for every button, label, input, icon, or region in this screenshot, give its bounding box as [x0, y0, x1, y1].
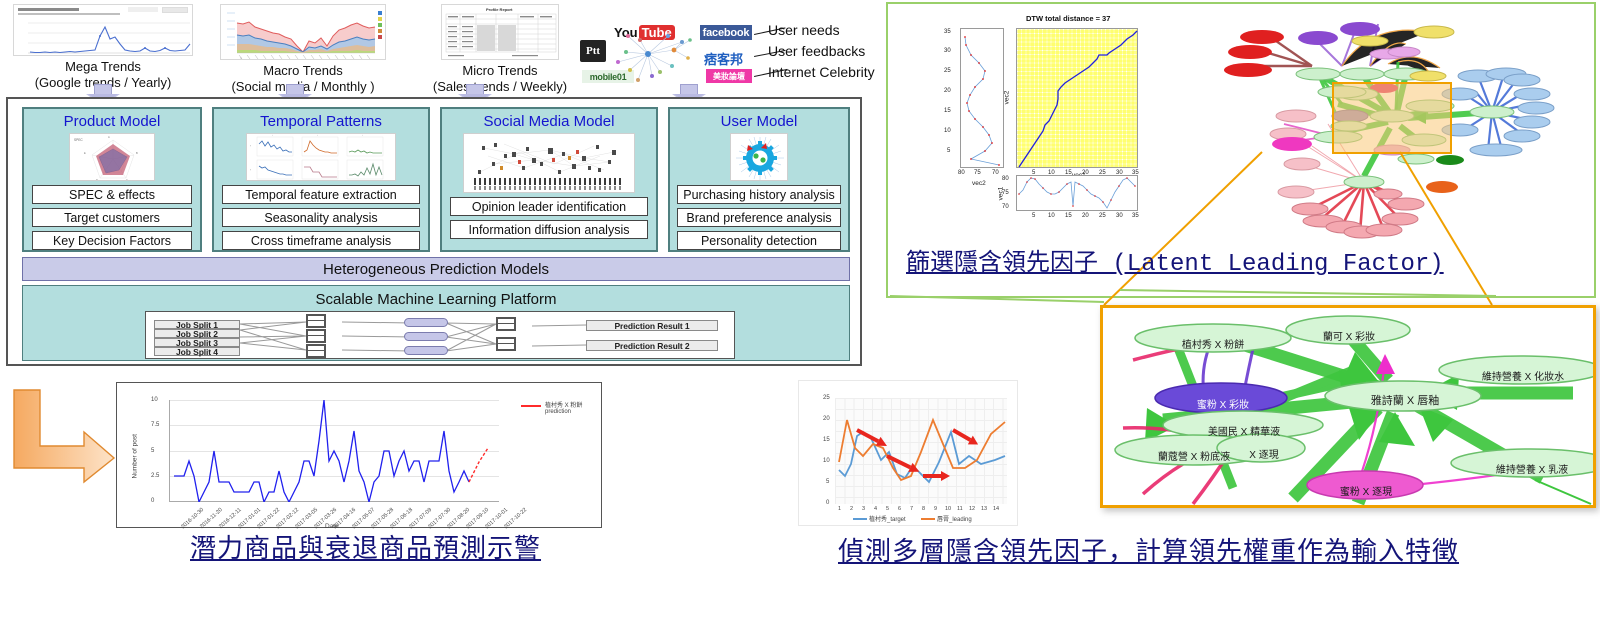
leadlag-ytick-0: 0 [826, 500, 829, 506]
svg-text:Profile Report: Profile Report [486, 7, 513, 12]
graph-node-essence[interactable]: 美國民 X 精華液 [1165, 417, 1323, 443]
dtw-left-xaxis-label: vec2 [972, 180, 986, 187]
graph-node-loose-powder-makeup[interactable]: 蜜粉 X 彩妝 [1159, 390, 1287, 416]
svg-text:SPEC: SPEC [74, 138, 83, 142]
leading-factor-network-graph [1192, 4, 1592, 242]
legend-swatch-target [853, 518, 867, 520]
label-internet-celebrity: Internet Celebrity [768, 64, 875, 80]
leadlag-xtick: 3 [862, 506, 865, 512]
user-gear-graphic [731, 134, 788, 181]
user-gear-thumbnail [730, 133, 788, 181]
dtw-left-xtick-75: 75 [974, 170, 981, 176]
pillar-social-media-model: Social Media Model [440, 107, 658, 252]
dtw-main-ytick-25: 25 [944, 68, 951, 74]
svg-text:t: t [362, 134, 363, 137]
leadlag-xtick: 14 [993, 506, 999, 512]
label-user-needs: User needs [768, 22, 840, 38]
legend-label-leadlag-target: 植村秀_target [869, 514, 906, 523]
mapper-node-3 [306, 344, 326, 358]
caption-latent-leading-factor: 篩選隱含領先因子 (Latent Leading Factor) [906, 250, 1496, 281]
facebook-icon[interactable]: facebook [700, 25, 752, 40]
trend-column-macro: a Macro Trends (Social media / Monthly ) [208, 4, 398, 94]
thumbnail-header-pill-1 [162, 7, 188, 13]
dtw-bottom-xtick-30: 30 [1116, 213, 1123, 219]
dtw-main-ytick-35: 35 [944, 29, 951, 35]
dtw-left-xtick-70: 70 [992, 170, 999, 176]
legend-swatch-prediction [521, 405, 541, 407]
leadlag-xtick: 13 [981, 506, 987, 512]
network-selection-rectangle[interactable] [1332, 82, 1452, 154]
leadlag-plot-area [835, 398, 1007, 504]
sales-report-table-thumbnail: Profile Report [442, 5, 559, 60]
legend-label-prediction: prediction [545, 409, 571, 415]
leadlag-ytick-20: 20 [823, 416, 830, 422]
dtw-bottom-xtick-25: 25 [1099, 213, 1106, 219]
pink-forum-icon[interactable]: 美妝論壇 [706, 69, 752, 83]
social-network-thumbnail [463, 133, 635, 193]
mega-trends-thumbnail [13, 4, 193, 56]
svg-text:y: y [250, 169, 251, 171]
dtw-main-ytick-20: 20 [944, 88, 951, 94]
dtw-vec1-series [1017, 176, 1139, 212]
graph-node-powder-appearance[interactable]: 蜜粉 X 逐現 [1309, 477, 1423, 503]
leadlag-xtick: 5 [886, 506, 889, 512]
job-split-4[interactable]: Job Split 4 [154, 347, 240, 356]
leadlag-xtick: 7 [910, 506, 913, 512]
pillar-title-user-model: User Model [721, 113, 798, 130]
forecast-ytick-7_5: 7.5 [151, 422, 159, 428]
dtw-cost-matrix-axes [1016, 28, 1138, 168]
pillar-user-model: User Model [668, 107, 850, 252]
pillar-title-social-media-model: Social Media Model [484, 113, 615, 130]
mobile01-icon[interactable]: mobile01 [582, 70, 634, 83]
svg-text:t: t [317, 134, 318, 137]
trend-label-micro: Micro Trends [400, 63, 600, 79]
chip-personality-detection[interactable]: Personality detection [677, 231, 841, 250]
band-scalable-ml-platform: Scalable Machine Learning Platform Job S… [22, 285, 850, 361]
small-multiples-thumbnail: yy ttt [246, 133, 396, 181]
graph-node-lancome-makeup[interactable]: 蘭可 X 彩妝 [1287, 322, 1411, 348]
youtube-word: You [614, 25, 638, 40]
pixnet-icon[interactable]: 痞客邦 [704, 49, 743, 68]
micro-trends-thumbnail: Profile Report [441, 4, 559, 60]
leadlag-xtick: 2 [850, 506, 853, 512]
trend-column-mega: Mega Trends (Google trends / Yearly) [8, 4, 198, 90]
dtw-bottom-ytick-70: 70 [1002, 204, 1009, 210]
pillar-title-temporal-patterns: Temporal Patterns [260, 113, 382, 130]
dtw-warping-path [1017, 29, 1139, 169]
trend-sublabel-micro: (Sales trends / Weekly) [400, 79, 600, 94]
label-user-feedbacks: User feedbacks [768, 43, 865, 59]
mapper-node-1 [306, 314, 326, 328]
dtw-bottom-xtick-10: 10 [1048, 213, 1055, 219]
band-heterogeneous-prediction-models: Heterogeneous Prediction Models [22, 257, 850, 281]
dtw-bottom-xtick-20: 20 [1082, 213, 1089, 219]
svg-text:B: B [136, 151, 138, 155]
dtw-main-ytick-10: 10 [944, 128, 951, 134]
chip-seasonality-analysis[interactable]: Seasonality analysis [222, 208, 420, 227]
leadlag-xtick: 1 [838, 506, 841, 512]
svg-text:D: D [96, 178, 98, 181]
svg-text:A: A [108, 135, 110, 139]
dtw-bottom-axes [1016, 175, 1138, 211]
dtw-main-ytick-15: 15 [944, 108, 951, 114]
reducer-node-1 [496, 317, 516, 331]
dtw-left-yaxis-label: vec2 [1003, 91, 1010, 105]
forecast-yaxis-label: Number of post [132, 419, 139, 479]
youtube-tube-badge: Tube [639, 25, 675, 40]
leadlag-xtick: 9 [934, 506, 937, 512]
trend-label-macro: Macro Trends [208, 63, 398, 79]
leadlag-ytick-5: 5 [826, 479, 829, 485]
leadlag-xtick: 10 [945, 506, 951, 512]
thumbnail-header-pill-2 [128, 7, 158, 12]
chip-purchasing-history-analysis[interactable]: Purchasing history analysis [677, 185, 841, 204]
macro-trends-thumbnail: a [220, 4, 386, 60]
dtw-left-xtick-80: 80 [958, 170, 965, 176]
trend-label-mega: Mega Trends [8, 59, 198, 75]
forecast-plot-area [169, 400, 499, 502]
svg-text:t: t [272, 134, 273, 137]
caption-multilayer-leading: 偵測多層隱含領先因子，計算領先權重作為輸入特徵 [838, 535, 1528, 568]
flow-arrow-to-forecast [8, 388, 118, 484]
mapper-node-2 [306, 329, 326, 343]
dtw-main-ytick-5: 5 [947, 148, 950, 154]
ptt-icon[interactable]: Ptt [580, 40, 606, 62]
forecast-series-svg [170, 400, 500, 502]
chip-brand-preference-analysis[interactable]: Brand preference analysis [677, 208, 841, 227]
leadlag-series-svg [835, 398, 1007, 504]
dtw-left-axes [960, 28, 1004, 168]
shuffle-node-3 [404, 346, 448, 355]
radar-chart: SPEC AB CDE [70, 134, 155, 181]
shuffle-node-2 [404, 332, 448, 341]
chip-cross-timeframe-analysis[interactable]: Cross timeframe analysis [222, 231, 420, 250]
prediction-result-1[interactable]: Prediction Result 1 [586, 320, 718, 331]
legend-label-target: 植村秀 X 粉餅 [545, 400, 582, 409]
graph-node-toner[interactable]: 維持營養 X 化妝水 [1441, 362, 1596, 388]
caption-potential-decline-alert: 潛力商品與衰退商品預測示警 [190, 532, 610, 565]
dtw-bottom-ytick-80: 80 [1002, 176, 1009, 182]
large-social-graph [464, 134, 635, 193]
chip-temporal-feature-extraction[interactable]: Temporal feature extraction [222, 185, 420, 204]
forecast-ytick-2_5: 2.5 [151, 473, 159, 479]
pillar-product-model: Product Model SPEC AB CDE [22, 107, 202, 252]
svg-text:E: E [84, 151, 86, 155]
mega-trends-sparkline [14, 19, 193, 56]
reducer-node-2 [496, 337, 516, 351]
social-media-sources-cluster: Ptt YouTube facebook 痞客邦 mobile01 美妝論壇 [578, 14, 778, 92]
leadlag-xtick: 6 [898, 506, 901, 512]
legend-swatch-leading [921, 518, 935, 520]
youtube-icon[interactable]: YouTube [614, 25, 675, 40]
leadlag-xtick: 8 [922, 506, 925, 512]
chip-spec-effects[interactable]: SPEC & effects [32, 185, 192, 204]
forecast-chart-panel: Number of post 10 7.5 5 2.5 0 2016-10-30… [116, 382, 602, 528]
dtw-main-ytick-30: 30 [944, 48, 951, 54]
dtw-bottom-xtick-15: 15 [1065, 213, 1072, 219]
radar-chart-thumbnail: SPEC AB CDE [69, 133, 155, 181]
leadlag-xtick: 4 [874, 506, 877, 512]
dtw-title: DTW total distance = 37 [1026, 14, 1110, 23]
dtw-bottom-xtick-5: 5 [1032, 213, 1035, 219]
leadlag-ytick-10: 10 [823, 458, 830, 464]
shuffle-node-1 [404, 318, 448, 327]
forecast-ytick-5: 5 [151, 448, 154, 454]
dtw-bottom-yaxis-label: vec1 [997, 187, 1004, 201]
leadlag-xtick: 11 [957, 506, 963, 512]
legend-label-leadlag-leading: 唇膏_leading [937, 514, 972, 523]
pillar-title-product-model: Product Model [64, 113, 161, 130]
graph-node-appearance[interactable]: X 逐現 [1221, 440, 1307, 466]
leadlag-chart-panel: 25 20 15 10 5 0 [798, 380, 1018, 526]
prediction-result-2[interactable]: Prediction Result 2 [586, 340, 718, 351]
graph-node-ue-powder[interactable]: 植村秀 X 粉餅 [1137, 330, 1289, 356]
band-scalable-ml-platform-title: Scalable Machine Learning Platform [23, 286, 849, 308]
ml-pipeline-diagram: Job Split 1 Job Split 2 Job Split 3 Job … [145, 311, 735, 359]
leadlag-ytick-15: 15 [823, 437, 830, 443]
network-zoom-detail-box: 植村秀 X 粉餅 蘭可 X 彩妝 雅詩蘭 X 唇釉 維持營養 X 化妝水 維持營… [1100, 305, 1596, 508]
macro-trends-areachart: a [221, 5, 386, 60]
chip-target-customers[interactable]: Target customers [32, 208, 192, 227]
chip-opinion-leader-identification[interactable]: Opinion leader identification [450, 197, 648, 216]
architecture-framework-box: Product Model SPEC AB CDE [6, 97, 862, 366]
trend-column-micro: Profile Report [400, 4, 600, 94]
chip-key-decision-factors[interactable]: Key Decision Factors [32, 231, 192, 250]
dtw-vec2-series [961, 29, 1005, 169]
svg-text:C: C [126, 178, 128, 181]
dtw-alignment-figure: DTW total distance = 37 35 30 25 20 15 1… [908, 8, 1148, 240]
slide-canvas: Mega Trends (Google trends / Yearly) a [0, 0, 1600, 633]
forecast-ytick-10: 10 [151, 397, 158, 403]
leadlag-ytick-25: 25 [823, 395, 830, 401]
graph-node-hub[interactable]: 雅詩蘭 X 唇釉 [1327, 386, 1483, 414]
small-multiples-chart: yy ttt [247, 134, 396, 181]
leadlag-xtick: 12 [969, 506, 975, 512]
pixnet-label: 痞客邦 [704, 52, 743, 67]
pillar-temporal-patterns: Temporal Patterns yy [212, 107, 430, 252]
forecast-xaxis-label: Date [325, 523, 339, 530]
chip-information-diffusion-analysis[interactable]: Information diffusion analysis [450, 220, 648, 239]
forecast-ytick-0: 0 [151, 498, 154, 504]
orange-elbow-arrow [8, 388, 118, 484]
dtw-bottom-xtick-35: 35 [1132, 213, 1139, 219]
svg-text:y: y [250, 145, 251, 147]
